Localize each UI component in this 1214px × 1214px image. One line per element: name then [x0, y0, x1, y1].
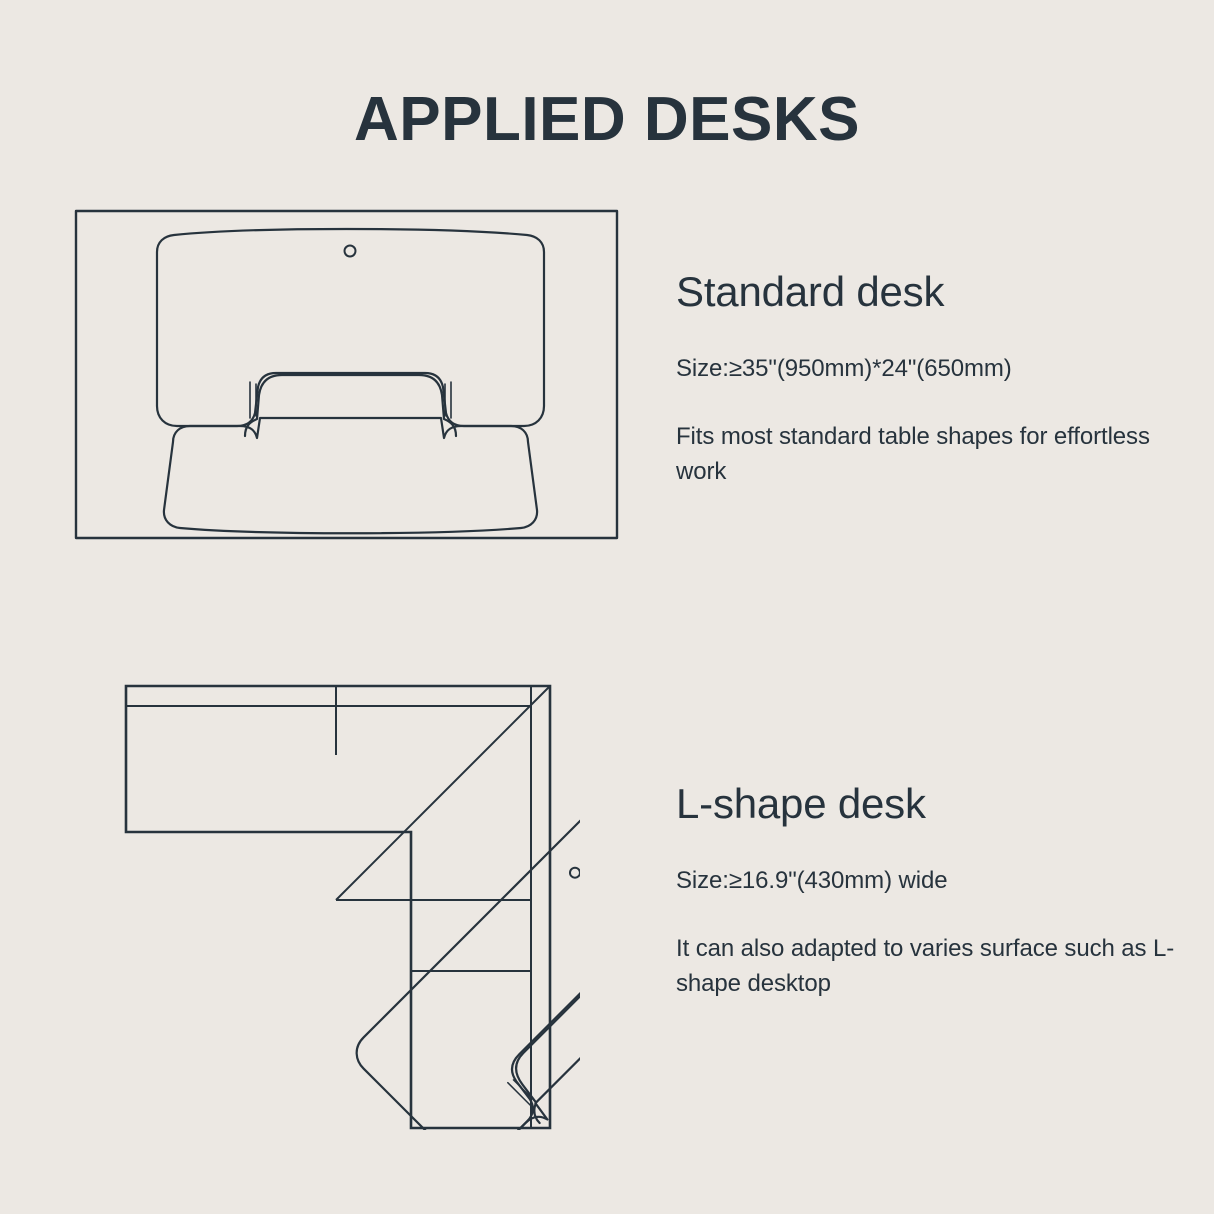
standard-desk-size-text: Size:≥35"(950mm)*24"(650mm): [676, 353, 1196, 384]
lshape-desk-diagram-svg: [100, 655, 580, 1130]
lshape-desk-heading: L-shape desk: [676, 780, 1196, 827]
lower-pad-outline: [164, 418, 537, 533]
standard-desk-heading: Standard desk: [676, 268, 1196, 315]
page-title: APPLIED DESKS: [0, 87, 1214, 152]
upper-pad-outline: [157, 229, 544, 426]
applied-desks-page: APPLIED DESKS: [0, 0, 1214, 1214]
lshape-desk-illustration: [100, 655, 580, 1130]
standard-desk-illustration: [60, 190, 640, 560]
standard-desk-diagram-svg: [60, 190, 640, 560]
pad-channel-line: [245, 375, 456, 436]
upper-pad-outline: [348, 801, 580, 1130]
cable-hole-icon: [568, 866, 580, 880]
corner-seam-diagonal: [336, 686, 550, 900]
cable-hole-icon: [345, 246, 356, 257]
lshape-pad-assembly: [348, 801, 580, 1130]
lshape-desk-size-text: Size:≥16.9"(430mm) wide: [676, 865, 1196, 896]
standard-desk-info-block: Standard desk Size:≥35"(950mm)*24"(650mm…: [676, 268, 1196, 490]
standard-desk-description: Fits most standard table shapes for effo…: [676, 420, 1176, 490]
lshape-desk-description: It can also adapted to varies surface su…: [676, 932, 1176, 1002]
lshape-surface-outline: [126, 686, 550, 1128]
lshape-desk-info-block: L-shape desk Size:≥16.9"(430mm) wide It …: [676, 780, 1196, 1002]
